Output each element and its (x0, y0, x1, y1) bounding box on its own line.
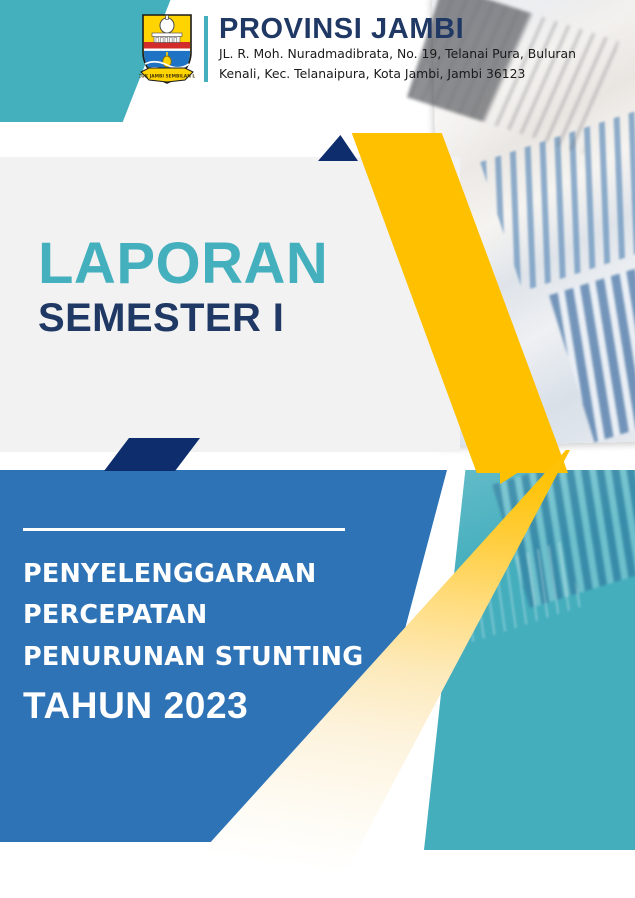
report-cover-page: SEPUCUK JAMBI SEMBILAN LURAH PROVINSI JA… (0, 0, 635, 898)
organization-address-line-1: JL. R. Moh. Nuradmadibrata, No. 19, Tela… (219, 45, 576, 64)
cover-title-block: LAPORAN SEMESTER I (38, 236, 328, 338)
svg-text:SEPUCUK JAMBI SEMBILAN LURAH: SEPUCUK JAMBI SEMBILAN LURAH (139, 74, 195, 80)
subject-divider-rule (23, 528, 345, 531)
subject-line-1: PENYELENGGARAAN (23, 554, 413, 595)
photo-chart-detail (549, 251, 635, 442)
jambi-provincial-coat-of-arms-icon: SEPUCUK JAMBI SEMBILAN LURAH (139, 12, 195, 92)
navy-triangle-shape (318, 135, 358, 161)
subject-line-3: PENURUNAN STUNTING (23, 637, 413, 678)
document-header: SEPUCUK JAMBI SEMBILAN LURAH PROVINSI JA… (0, 0, 635, 112)
page-subtitle: SEMESTER I (38, 298, 328, 339)
header-text-group: PROVINSI JAMBI JL. R. Moh. Nuradmadibrat… (219, 12, 576, 84)
organization-name: PROVINSI JAMBI (219, 14, 576, 44)
page-title: LAPORAN (38, 236, 328, 292)
subject-year: TAHUN 2023 (23, 682, 413, 729)
organization-address-line-2: Kenali, Kec. Telanaipura, Kota Jambi, Ja… (219, 65, 576, 84)
header-divider (204, 16, 208, 82)
subject-line-2: PERCEPATAN (23, 595, 413, 636)
cover-subject-block: PENYELENGGARAAN PERCEPATAN PENURUNAN STU… (23, 528, 413, 729)
